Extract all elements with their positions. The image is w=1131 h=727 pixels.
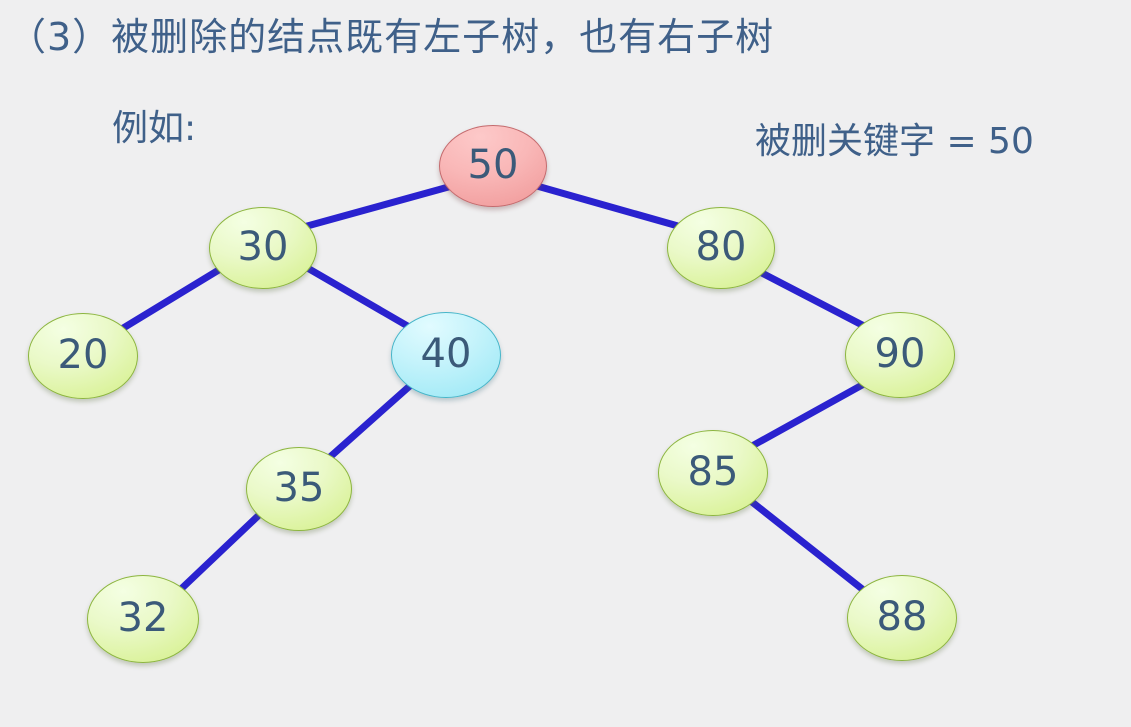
tree-node-label: 50 (468, 145, 519, 185)
tree-edge (752, 502, 866, 592)
tree-node-80: 80 (667, 207, 775, 289)
tree-node-label: 85 (688, 452, 739, 492)
tree-node-label: 88 (877, 597, 928, 637)
tree-edge (180, 516, 258, 590)
tree-node-88: 88 (847, 575, 957, 661)
tree-node-label: 32 (118, 598, 169, 638)
tree-node-30: 30 (209, 207, 317, 289)
tree-node-20: 20 (28, 313, 138, 399)
tree-node-90: 90 (845, 312, 955, 398)
tree-edge (300, 186, 452, 228)
tree-node-label: 30 (238, 227, 289, 267)
tree-node-85: 85 (658, 430, 768, 516)
tree-node-label: 20 (58, 335, 109, 375)
tree-edge (752, 384, 864, 446)
tree-edge (120, 268, 222, 330)
tree-node-label: 35 (274, 468, 325, 508)
tree-edge (760, 272, 866, 327)
tree-node-40: 40 (391, 312, 501, 398)
tree-node-32: 32 (87, 575, 199, 663)
tree-node-label: 90 (875, 334, 926, 374)
tree-node-35: 35 (246, 447, 352, 531)
slide-canvas: （3）被删除的结点既有左子树，也有右子树 例如: 被删关键字 = 50 5030… (0, 0, 1131, 727)
tree-node-label: 80 (696, 227, 747, 267)
tree-node-label: 40 (421, 334, 472, 374)
tree-edge (330, 384, 412, 457)
tree-edge (537, 186, 685, 228)
tree-node-50: 50 (439, 125, 547, 207)
tree-edge (304, 266, 411, 328)
